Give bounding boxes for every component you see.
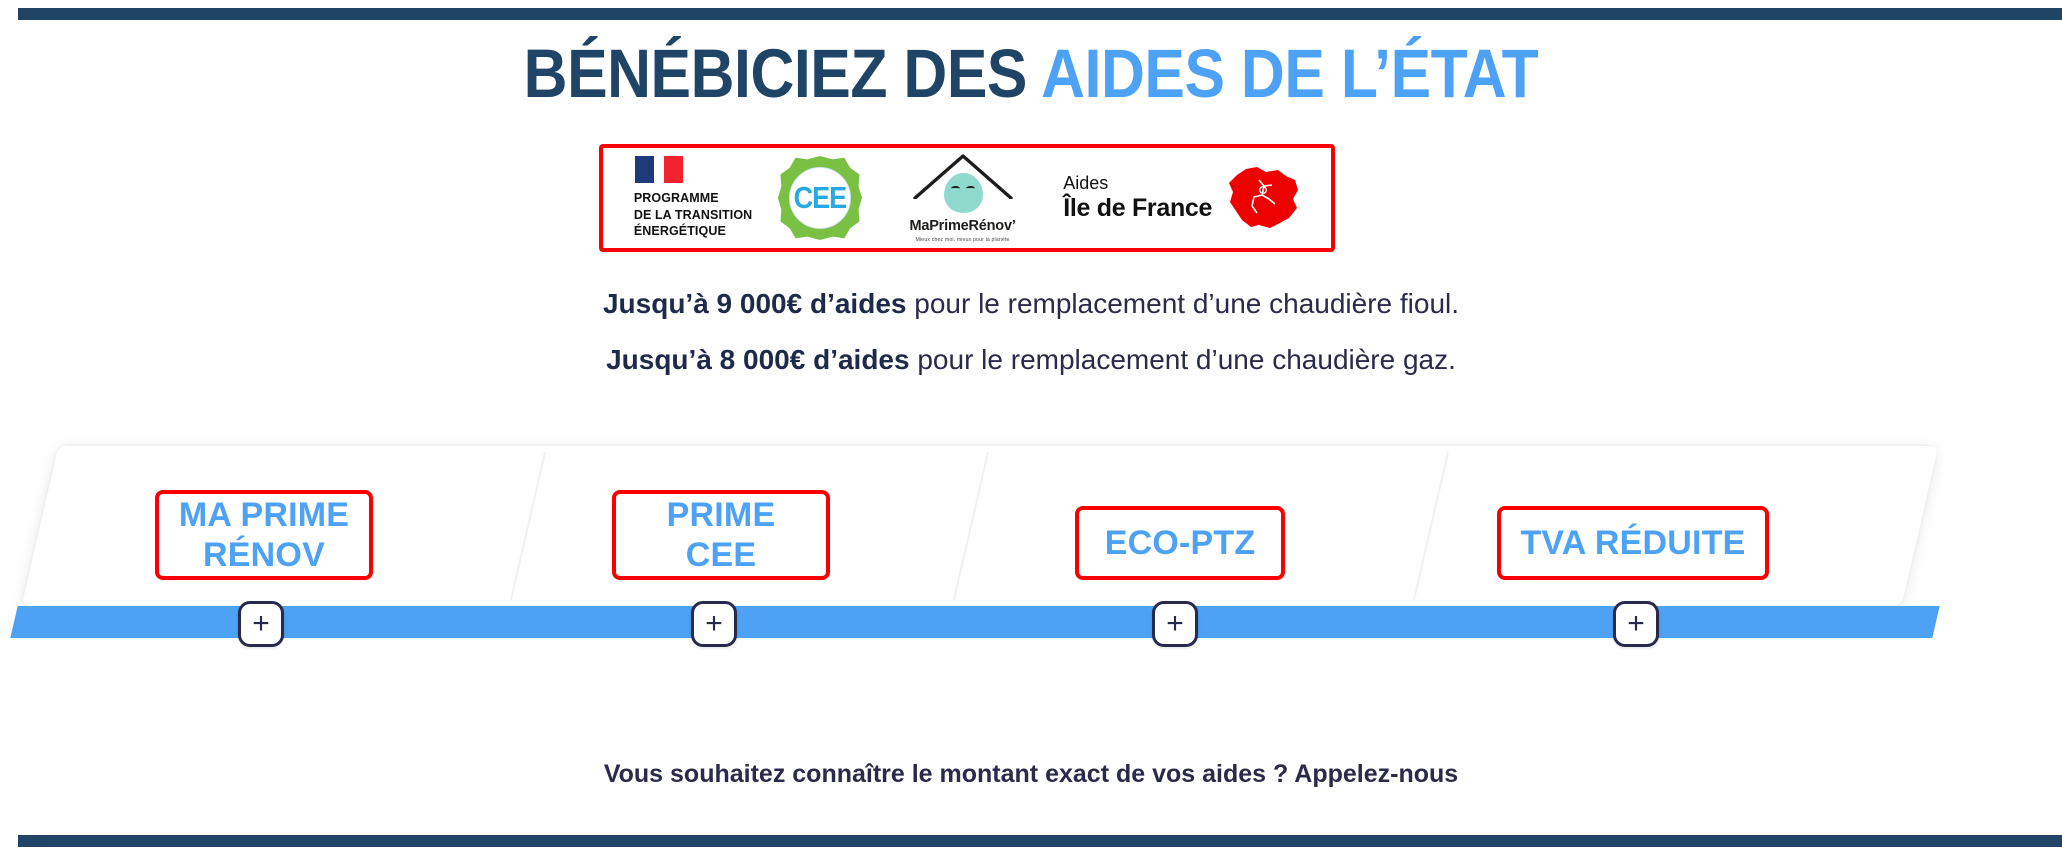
aid-amount-line-2: Jusqu’à 8 000€ d’aides pour le remplacem… bbox=[0, 344, 2062, 376]
partner-logo-strip: PROGRAMME DE LA TRANSITION ÉNERGÉTIQUE C… bbox=[599, 144, 1335, 252]
expand-button-ma-prime-renov[interactable]: + bbox=[238, 601, 284, 647]
maprimerenov-face-icon bbox=[944, 173, 983, 213]
page-title: BÉNÉBICIEZ DES AIDES DE L’ÉTAT bbox=[124, 38, 1939, 110]
logo-idf-text: Aides Île de France bbox=[1063, 174, 1212, 222]
logo-cee: CEE bbox=[778, 156, 862, 240]
aid-amount-2-rest: pour le remplacement d’une chaudière gaz… bbox=[910, 344, 1456, 375]
expand-button-tva-reduite[interactable]: + bbox=[1613, 601, 1659, 647]
aids-band: MA PRIME RÉNOV PRIME CEE ECO-PTZ TVA RÉD… bbox=[0, 446, 2062, 666]
logo-programme-transition-energetique: PROGRAMME DE LA TRANSITION ÉNERGÉTIQUE bbox=[634, 156, 753, 240]
logo-idf-line2: Île de France bbox=[1063, 194, 1212, 222]
logo-programme-text: PROGRAMME DE LA TRANSITION ÉNERGÉTIQUE bbox=[634, 190, 753, 240]
maprimerenov-house-icon bbox=[913, 153, 1013, 213]
aid-amount-1-rest: pour le remplacement d’une chaudière fio… bbox=[906, 288, 1459, 319]
aid-badge-tva-reduite[interactable]: TVA RÉDUITE bbox=[1497, 506, 1769, 580]
card-separator bbox=[1413, 452, 1449, 600]
aid-amount-line-1: Jusqu’à 9 000€ d’aides pour le remplacem… bbox=[0, 288, 2062, 320]
card-separator bbox=[510, 452, 546, 600]
page-title-part-dark: BÉNÉBICIEZ DES bbox=[524, 35, 1041, 112]
bottom-navy-rule bbox=[18, 835, 2062, 847]
aides-etat-page: BÉNÉBICIEZ DES AIDES DE L’ÉTAT PROGRAMME… bbox=[0, 0, 2062, 854]
aid-badge-ma-prime-renov[interactable]: MA PRIME RÉNOV bbox=[155, 490, 373, 580]
french-flag-icon bbox=[635, 156, 683, 183]
logo-aides-ile-de-france: Aides Île de France bbox=[1063, 166, 1300, 230]
aid-amount-1-bold: Jusqu’à 9 000€ d’aides bbox=[603, 288, 907, 319]
logo-programme-line1: PROGRAMME bbox=[634, 190, 753, 207]
aid-badge-eco-ptz[interactable]: ECO-PTZ bbox=[1075, 506, 1285, 580]
aid-amount-2-bold: Jusqu’à 8 000€ d’aides bbox=[606, 344, 910, 375]
expand-button-eco-ptz[interactable]: + bbox=[1152, 601, 1198, 647]
top-navy-rule bbox=[18, 8, 2062, 20]
logo-idf-line1: Aides bbox=[1063, 174, 1212, 194]
logo-cee-label: CEE bbox=[794, 181, 847, 216]
logo-programme-line2: DE LA TRANSITION bbox=[634, 207, 753, 224]
page-title-part-light: AIDES DE L’ÉTAT bbox=[1041, 35, 1538, 112]
aid-badge-prime-cee[interactable]: PRIME CEE bbox=[612, 490, 830, 580]
logo-programme-line3: ÉNERGÉTIQUE bbox=[634, 223, 753, 240]
logo-maprimerenov: MaPrimeRénov’ Mieux chez moi, mieux pour… bbox=[888, 153, 1038, 243]
contact-caption: Vous souhaitez connaître le montant exac… bbox=[0, 760, 2062, 789]
card-separator bbox=[953, 452, 989, 600]
cee-badge-icon: CEE bbox=[778, 156, 862, 240]
expand-button-prime-cee[interactable]: + bbox=[691, 601, 737, 647]
logo-maprimerenov-tagline: Mieux chez moi, mieux pour la planète bbox=[916, 237, 1010, 243]
ile-de-france-map-icon bbox=[1226, 166, 1300, 230]
logo-maprimerenov-label: MaPrimeRénov’ bbox=[909, 218, 1015, 234]
